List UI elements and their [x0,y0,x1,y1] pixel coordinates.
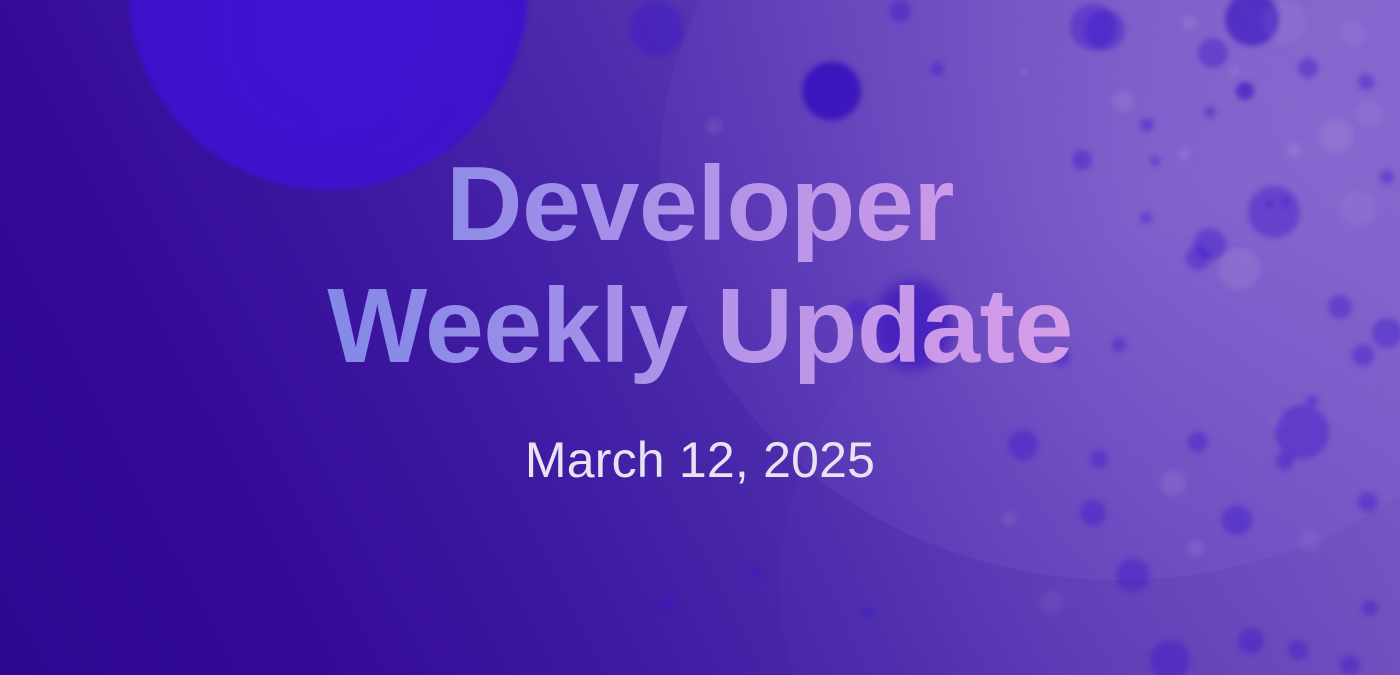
page-title: Developer Weekly Update [327,144,1073,388]
title-line-2: Weekly Update [327,266,1073,388]
slide-content: Developer Weekly Update March 12, 2025 [0,0,1400,675]
title-slide: Developer Weekly Update March 12, 2025 [0,0,1400,675]
slide-date: March 12, 2025 [525,431,875,489]
title-line-1: Developer [327,144,1073,266]
